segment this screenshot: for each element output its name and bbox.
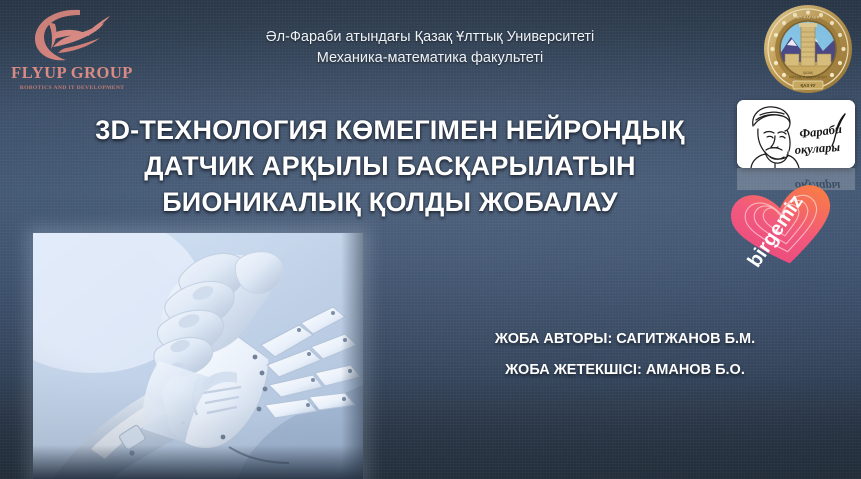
page-title: 3D-ТЕХНОЛОГИЯ КӨМЕГІМЕН НЕЙРОНДЫҚ ДАТЧИК…: [40, 112, 740, 220]
flyup-logo-name: FLYUP GROUP: [8, 65, 136, 82]
kaznu-seal-icon: ӘЛ-ФАРАБИ ҚАЗАҚ ҰЛТТЫҚ УНИВЕРСИТЕТІ ҚАЗ …: [763, 4, 853, 94]
project-credits: ЖОБА АВТОРЫ: САГИТЖАНОВ Б.М. ЖОБА ЖЕТЕКШ…: [415, 324, 835, 386]
bionic-hand-photo-image: [33, 233, 363, 479]
birgemiz-heart-icon: birgemiz: [723, 182, 843, 268]
title-line-1: 3D-ТЕХНОЛОГИЯ КӨМЕГІМЕН НЕЙРОНДЫҚ: [40, 112, 740, 148]
title-line-2: ДАТЧИК АРҚЫЛЫ БАСҚАРЫЛАТЫН: [40, 148, 740, 184]
credits-authors: ЖОБА АВТОРЫ: САГИТЖАНОВ Б.М.: [415, 324, 835, 355]
bionic-hand-photo: [33, 233, 363, 479]
birgemiz-heart-logo: birgemiz: [723, 182, 843, 268]
presentation-slide: FLYUP GROUP ROBOTICS AND IT DEVELOPMENT …: [0, 0, 861, 479]
university-header: Әл-Фараби атындағы Қазақ Ұлттық Универси…: [150, 27, 710, 69]
kaznu-university-seal: ӘЛ-ФАРАБИ ҚАЗАҚ ҰЛТТЫҚ УНИВЕРСИТЕТІ ҚАЗ …: [763, 4, 853, 94]
flyup-logo-tagline: ROBOTICS AND IT DEVELOPMENT: [8, 85, 136, 91]
al-farabi-portrait-icon: Фараби оқулары: [737, 100, 855, 168]
credits-supervisor: ЖОБА ЖЕТЕКШІСІ: АМАНОВ Б.О.: [415, 355, 835, 386]
seal-text-mid: ҚАЗАҚ: [803, 71, 813, 75]
photo-edge-fade-right: [341, 233, 363, 479]
flyup-group-logo: FLYUP GROUP ROBOTICS AND IT DEVELOPMENT: [8, 6, 136, 98]
hand-illustration: [33, 233, 363, 479]
seal-text-top: ӘЛ-ФАРАБИ: [796, 16, 819, 20]
seal-banner-text: ҚАЗ ҰУ: [801, 83, 816, 88]
seal-text-bottom: ҰЛТТЫҚ УНИВЕРСИТЕТІ: [789, 76, 827, 80]
farabi-readings-badge: Фараби оқулары: [737, 100, 855, 168]
photo-edge-fade-bottom: [33, 445, 363, 479]
title-line-3: БИОНИКАЛЫҚ ҚОЛДЫ ЖОБАЛАУ: [40, 184, 740, 220]
university-name-line: Әл-Фараби атындағы Қазақ Ұлттық Универси…: [150, 27, 710, 48]
faculty-name-line: Механика-математика факультеті: [150, 48, 710, 69]
phoenix-bird-icon: [22, 6, 122, 64]
